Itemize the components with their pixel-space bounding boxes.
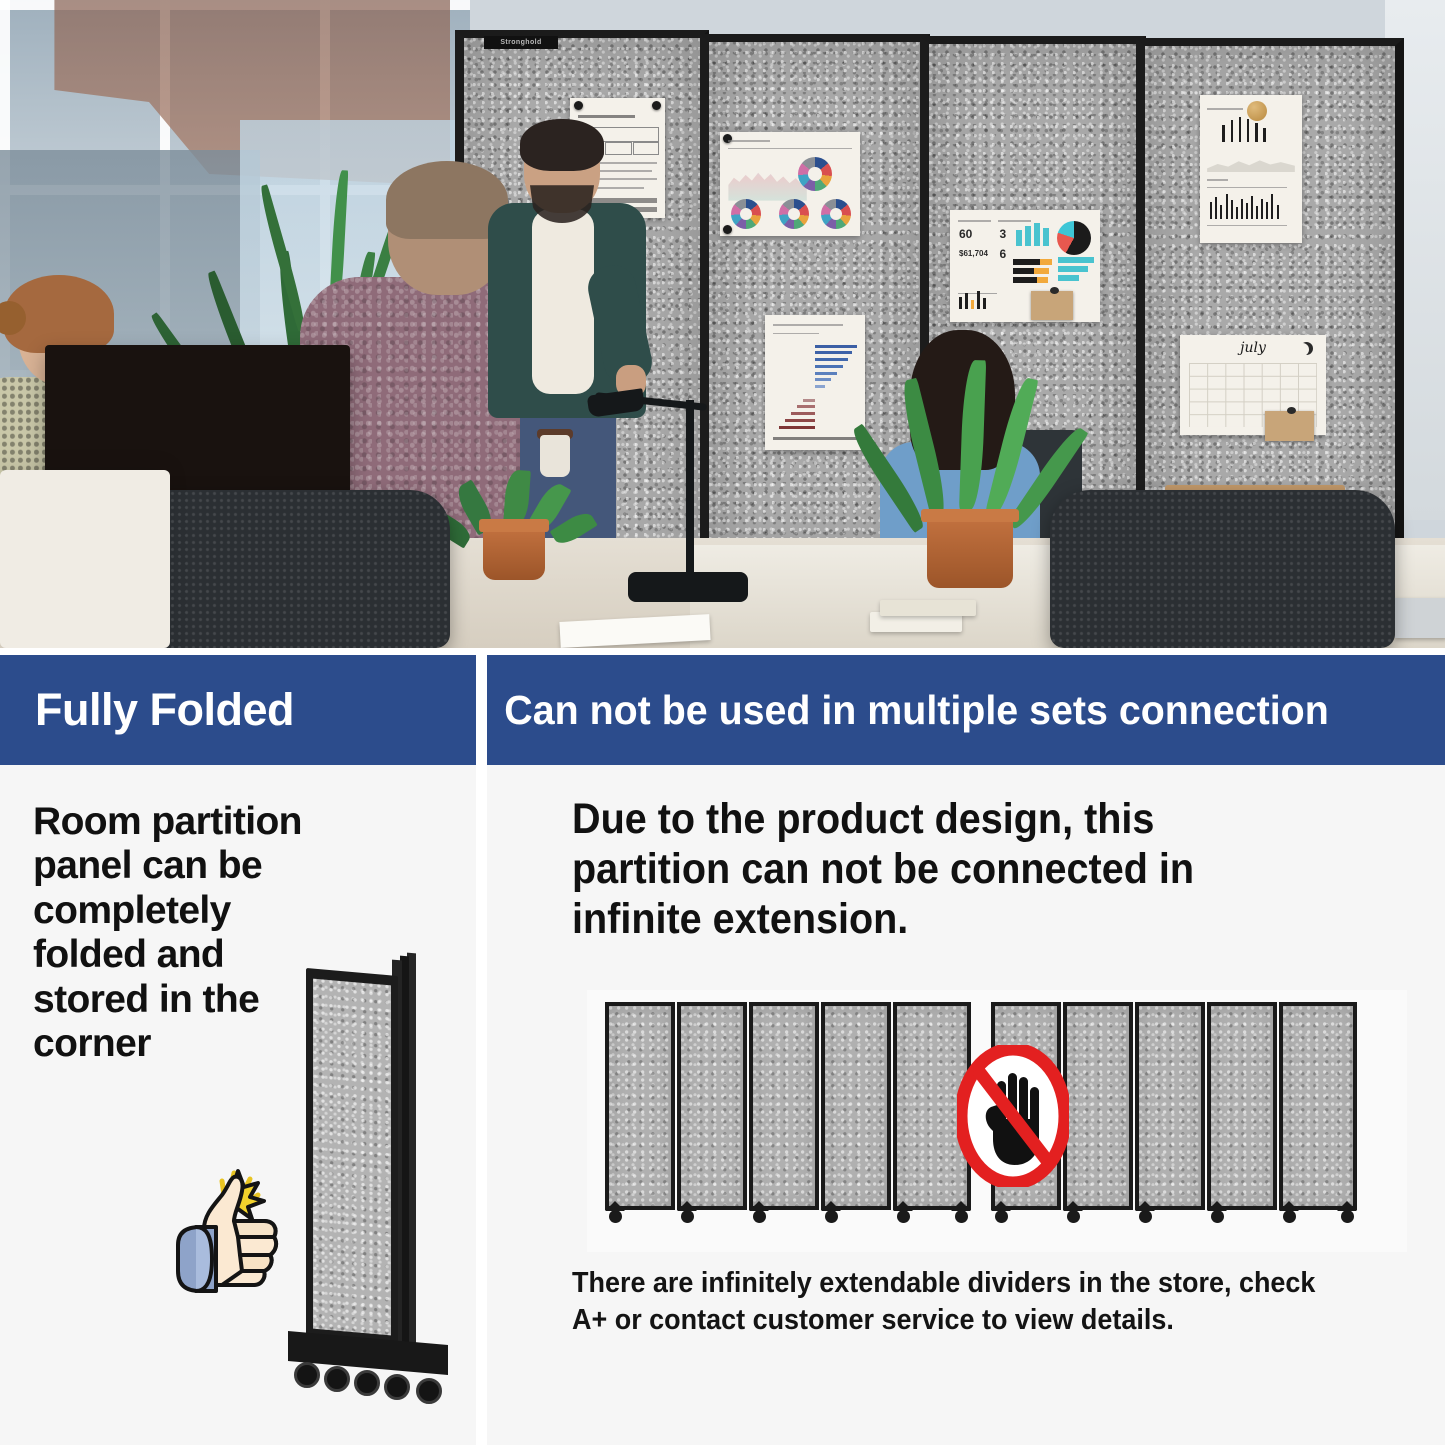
divider-panel (1279, 1002, 1357, 1210)
bar (1043, 228, 1049, 246)
left-content-panel: Room partition panel can be completely f… (0, 765, 476, 1445)
donut-chart (779, 199, 809, 229)
bar (1226, 194, 1228, 219)
caster-wheel-icon (681, 1210, 694, 1223)
bar-positive (815, 351, 852, 354)
caster-wheel-icon (1067, 1210, 1080, 1223)
sticky-note (1031, 291, 1073, 320)
no-hand-icon (957, 1045, 1069, 1187)
bar (1058, 266, 1088, 272)
bar (1037, 277, 1048, 283)
caster-wheel-icon (995, 1210, 1008, 1223)
folded-partition-product-image (288, 950, 453, 1390)
thumbs-up-icon (160, 1165, 290, 1315)
bar (1034, 268, 1049, 274)
kpi-label (958, 220, 991, 222)
bar (1058, 275, 1079, 281)
poster-diverging-bar-chart (765, 315, 865, 450)
caster-wheel-icon (384, 1374, 410, 1400)
bar-positive (815, 385, 825, 388)
chart-title (773, 324, 843, 326)
report-title (1207, 108, 1243, 110)
donut-chart (731, 199, 761, 229)
sticky-note (1265, 411, 1315, 441)
hero-photo: Stronghold (0, 0, 1445, 648)
poster-kpi-dashboard: 60 3 $61,704 6 (950, 210, 1100, 322)
caster-wheel-icon (1211, 1210, 1224, 1223)
bar (1215, 197, 1217, 219)
bar-positive (815, 378, 831, 381)
kpi-label (998, 220, 1031, 222)
foreground-blur-object (0, 470, 170, 648)
bar (1016, 230, 1022, 246)
caster-wheel-icon (324, 1366, 350, 1392)
bar-negative (779, 426, 815, 429)
bar (1271, 194, 1273, 219)
bar (1013, 268, 1034, 274)
kpi-value: 60 (959, 227, 972, 241)
bar-positive (815, 358, 848, 361)
kpi-value: 3 (1000, 227, 1007, 241)
hair (520, 119, 604, 171)
caster-wheel-icon (955, 1210, 968, 1223)
bar (1266, 202, 1268, 220)
plant-zz (905, 360, 1035, 600)
right-content-panel: Due to the product design, this partitio… (487, 765, 1445, 1445)
bar-positive (815, 345, 857, 348)
kpi-value: 6 (1000, 247, 1007, 261)
caster-wheel-icon (1283, 1210, 1296, 1223)
doc-heading-line (578, 115, 635, 118)
pin-icon (1247, 101, 1267, 121)
pin-icon (723, 225, 732, 234)
object-right (1395, 598, 1445, 638)
desk-lamp-base (628, 572, 748, 602)
product-infographic-page: Stronghold (0, 0, 1445, 1445)
bar (1058, 257, 1094, 263)
bar (1261, 199, 1263, 220)
bar-negative (797, 405, 815, 408)
area-chart (1207, 154, 1295, 172)
divider-panel (749, 1002, 819, 1210)
divider-set-left (605, 1002, 971, 1230)
caster-wheel-icon (416, 1378, 442, 1404)
bar (1013, 259, 1040, 265)
text-line (1207, 187, 1287, 188)
front-panel-felt (313, 979, 391, 1336)
chart-axis (773, 437, 857, 440)
bar (1231, 120, 1234, 142)
caster-wheel-icon (753, 1210, 766, 1223)
bar (1239, 117, 1242, 142)
bar-positive (815, 372, 837, 375)
area-chart (728, 159, 806, 201)
bar (1040, 259, 1052, 265)
bar (1231, 200, 1233, 219)
bar-negative (785, 419, 815, 422)
axis-line (1207, 225, 1287, 226)
bar (1210, 202, 1212, 220)
bar-positive (815, 365, 843, 368)
bar (1025, 226, 1031, 246)
desk-lamp-pole (686, 400, 694, 580)
office-chair-right (1050, 490, 1395, 648)
bar (1236, 207, 1238, 219)
bar-negative (791, 412, 815, 415)
right-banner-title: Can not be used in multiple sets connect… (487, 687, 1329, 734)
bar (1251, 196, 1253, 220)
shirt (532, 209, 594, 394)
right-body-text: Due to the product design, this partitio… (572, 795, 1308, 945)
caster-wheel-icon (897, 1210, 910, 1223)
caster-wheel-icon (354, 1370, 380, 1396)
section-title (1207, 179, 1227, 181)
plant-small-left (455, 470, 575, 580)
caster-wheel-icon (1341, 1210, 1354, 1223)
divider-panel (677, 1002, 747, 1210)
bar (971, 300, 974, 309)
poster-analytics-dashboard (720, 132, 860, 236)
pin-icon (574, 101, 583, 110)
bar (1247, 119, 1250, 143)
donut-chart (821, 199, 851, 229)
bar (983, 298, 986, 308)
donut-chart (798, 157, 832, 191)
poster-july-calendar: july (1180, 335, 1326, 435)
right-note-text: There are infinitely extendable dividers… (572, 1265, 1335, 1339)
divider-panel (1207, 1002, 1277, 1210)
caster-wheel-icon (609, 1210, 622, 1223)
bar (1263, 128, 1266, 143)
divider-panel (821, 1002, 891, 1210)
right-banner: Can not be used in multiple sets connect… (487, 655, 1445, 765)
brand-logo-tag: Stronghold (484, 36, 558, 49)
caster-wheel-icon (294, 1362, 320, 1388)
bar-negative (803, 399, 815, 402)
divider-panel (1135, 1002, 1205, 1210)
left-banner: Fully Folded (0, 655, 476, 765)
kpi-value: $61,704 (959, 249, 988, 258)
bar (1241, 199, 1243, 220)
divider-panel (1063, 1002, 1133, 1210)
bar (1246, 203, 1248, 219)
caster-wheel-icon (1139, 1210, 1152, 1223)
bar (965, 293, 968, 309)
dashboard-title (728, 140, 770, 142)
bar (1255, 123, 1258, 142)
front-panel-frame (306, 968, 398, 1346)
two-divider-sets-illustration (587, 990, 1407, 1252)
bar (1013, 277, 1037, 283)
pin-icon (652, 101, 661, 110)
chart-subtitle (773, 333, 819, 334)
divider-panel (605, 1002, 675, 1210)
section-divider-horizontal (0, 648, 1445, 655)
caster-wheel-icon (825, 1210, 838, 1223)
moon-icon (1300, 342, 1313, 355)
bar (1277, 205, 1279, 220)
bar (1220, 205, 1222, 220)
bar (977, 291, 980, 309)
bar (1256, 206, 1258, 219)
bar (1034, 223, 1040, 245)
notebook (880, 600, 976, 616)
pie-chart (1057, 221, 1091, 255)
poster-statistics-report (1200, 95, 1302, 243)
left-banner-title: Fully Folded (0, 684, 294, 736)
divider (728, 148, 851, 149)
bar (959, 297, 962, 308)
section-divider-vertical (476, 655, 487, 1445)
bar (1222, 125, 1225, 143)
